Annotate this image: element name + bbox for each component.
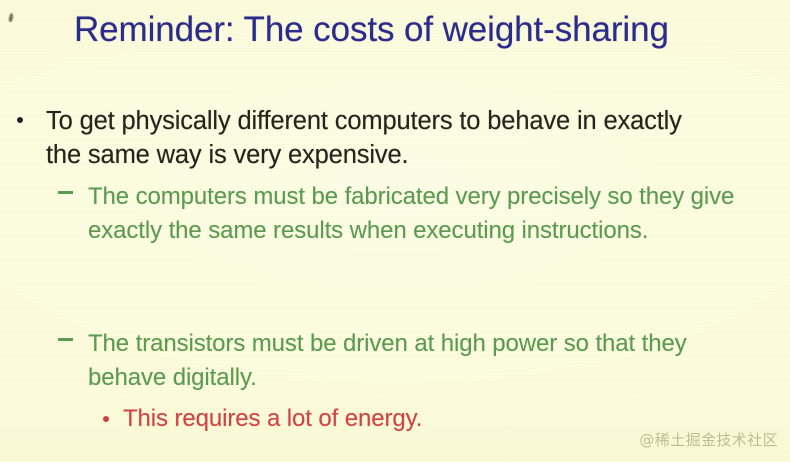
slide-title: Reminder: The costs of weight-sharing [74, 9, 754, 51]
bullet-level2-computers: The computers must be fabricated very pr… [58, 180, 738, 247]
bullet-level3-energy-text: This requires a lot of energy. [123, 403, 700, 435]
bullet-level2-computers-text: The computers must be fabricated very pr… [88, 180, 738, 247]
bullet-dash-icon [58, 338, 73, 341]
slide-canvas: Reminder: The costs of weight-sharing To… [0, 0, 790, 462]
bullet-level2-transistors-text: The transistors must be driven at high p… [88, 327, 738, 394]
stray-speck-artifact [8, 13, 14, 23]
bullet-level1: To get physically different computers to… [14, 104, 714, 172]
bullet-level3-energy: This requires a lot of energy. [100, 403, 700, 435]
bullet-dash-icon [58, 191, 73, 194]
bullet-dot-icon [17, 117, 23, 123]
watermark: @稀土掘金技术社区 [639, 431, 778, 449]
bullet-level2-transistors: The transistors must be driven at high p… [58, 327, 738, 394]
bullet-level1-text: To get physically different computers to… [46, 104, 714, 172]
bullet-dot-icon [103, 416, 109, 422]
